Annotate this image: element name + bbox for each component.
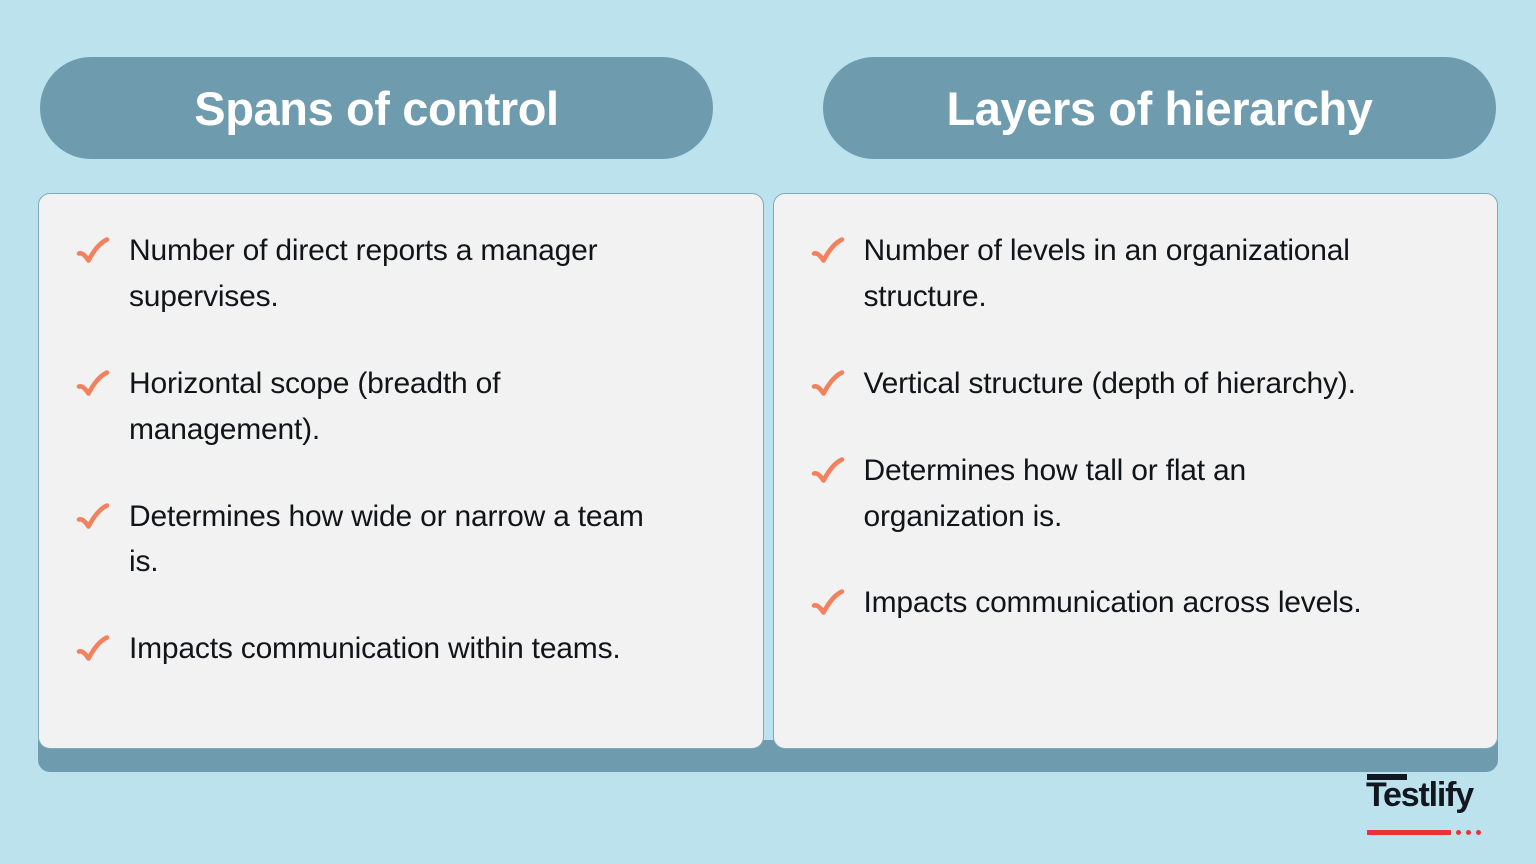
check-icon bbox=[808, 232, 848, 272]
check-icon bbox=[808, 584, 848, 624]
list-item: Number of levels in an organizational st… bbox=[808, 228, 1472, 320]
check-icon bbox=[808, 365, 848, 405]
check-icon bbox=[808, 452, 848, 492]
logo-wordmark: Testlify bbox=[1366, 778, 1473, 812]
list-item: Number of direct reports a manager super… bbox=[73, 228, 737, 320]
list-item: Vertical structure (depth of hierarchy). bbox=[808, 361, 1472, 407]
bullet-list: Number of levels in an organizational st… bbox=[808, 228, 1472, 626]
check-icon bbox=[73, 630, 113, 670]
list-item-label: Horizontal scope (breadth of management)… bbox=[129, 361, 659, 453]
card-spans-of-control: Number of direct reports a manager super… bbox=[38, 193, 764, 749]
list-item-label: Determines how wide or narrow a team is. bbox=[129, 494, 659, 586]
column-header-spans-of-control: Spans of control bbox=[40, 57, 713, 159]
logo-underline bbox=[1367, 830, 1451, 835]
comparison-infographic: Spans of control Layers of hierarchy Num… bbox=[0, 0, 1536, 864]
list-item-label: Impacts communication within teams. bbox=[129, 626, 621, 672]
logo-dot bbox=[1466, 830, 1471, 835]
column-headers: Spans of control Layers of hierarchy bbox=[40, 57, 1496, 159]
list-item-label: Number of direct reports a manager super… bbox=[129, 228, 659, 320]
logo-dots bbox=[1456, 830, 1481, 835]
list-item-label: Vertical structure (depth of hierarchy). bbox=[864, 361, 1356, 407]
list-item-label: Impacts communication across levels. bbox=[864, 580, 1362, 626]
comparison-cards: Number of direct reports a manager super… bbox=[38, 193, 1498, 749]
logo-dot bbox=[1456, 830, 1461, 835]
check-icon bbox=[73, 498, 113, 538]
list-item-label: Number of levels in an organizational st… bbox=[864, 228, 1394, 320]
logo-top-bar bbox=[1367, 774, 1407, 780]
bullet-list: Number of direct reports a manager super… bbox=[73, 228, 737, 672]
list-item: Determines how tall or flat an organizat… bbox=[808, 448, 1472, 540]
testlify-logo: Testlify bbox=[1366, 778, 1498, 826]
column-header-layers-of-hierarchy: Layers of hierarchy bbox=[823, 57, 1496, 159]
column-header-label: Layers of hierarchy bbox=[946, 85, 1372, 132]
card-layers-of-hierarchy: Number of levels in an organizational st… bbox=[773, 193, 1499, 749]
check-icon bbox=[73, 365, 113, 405]
list-item: Determines how wide or narrow a team is. bbox=[73, 494, 737, 586]
logo-dot bbox=[1476, 830, 1481, 835]
check-icon bbox=[73, 232, 113, 272]
list-item-label: Determines how tall or flat an organizat… bbox=[864, 448, 1394, 540]
column-header-label: Spans of control bbox=[194, 85, 558, 132]
list-item: Impacts communication within teams. bbox=[73, 626, 737, 672]
list-item: Horizontal scope (breadth of management)… bbox=[73, 361, 737, 453]
list-item: Impacts communication across levels. bbox=[808, 580, 1472, 626]
